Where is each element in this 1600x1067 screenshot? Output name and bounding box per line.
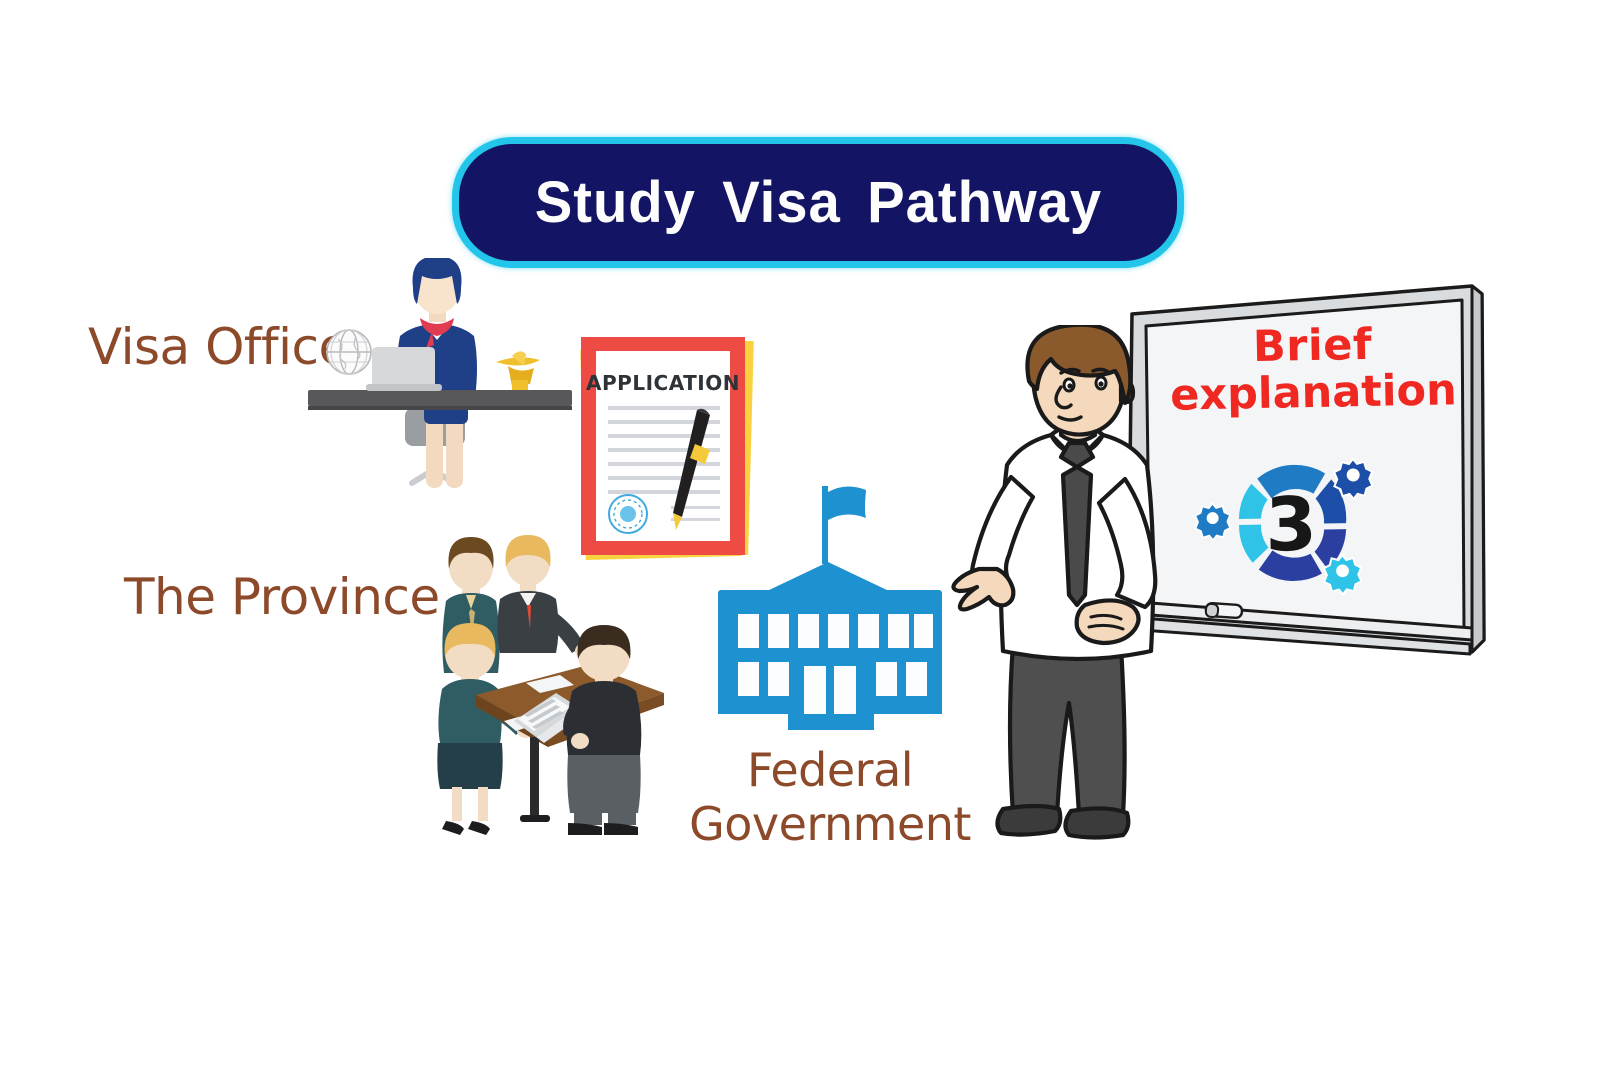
province-meeting-scene bbox=[408, 525, 668, 835]
presenter-character bbox=[935, 325, 1205, 890]
airplane-model-icon bbox=[496, 351, 540, 390]
illustration-canvas: Study Visa Pathway Visa Office bbox=[0, 0, 1600, 1067]
page-title: Study Visa Pathway bbox=[534, 169, 1101, 236]
person-standing-center bbox=[498, 535, 594, 659]
whiteboard-step-badge: 3 bbox=[1184, 430, 1402, 614]
label-the-province: The Province bbox=[124, 568, 440, 626]
svg-text:APPLICATION: APPLICATION bbox=[586, 371, 740, 395]
person-standing-front-right bbox=[563, 625, 641, 835]
badge-number: 3 bbox=[1265, 482, 1318, 569]
flag-icon bbox=[822, 486, 866, 564]
visa-office-scene bbox=[300, 258, 580, 518]
government-building-icon bbox=[700, 478, 960, 740]
page-title-banner: Study Visa Pathway bbox=[452, 137, 1184, 268]
